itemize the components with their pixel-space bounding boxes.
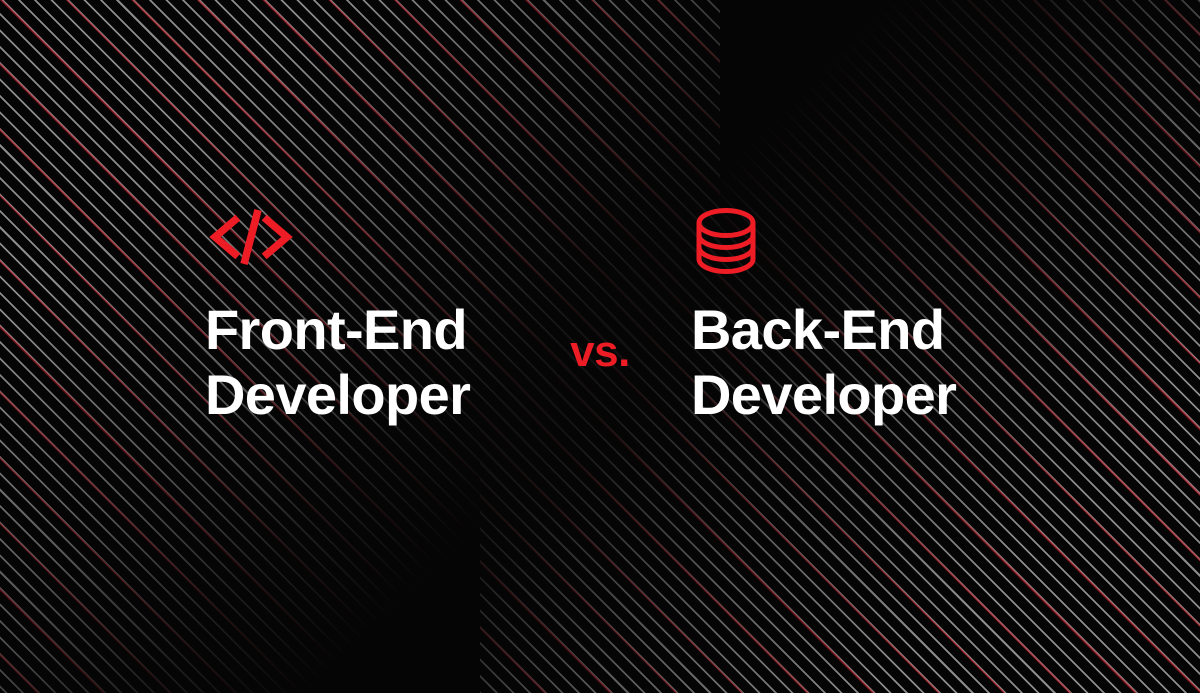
graphic-canvas: Front-End Developer vs. bbox=[0, 0, 1200, 693]
front-end-title: Front-End Developer bbox=[205, 298, 543, 428]
comparison-side-front-end: Front-End Developer bbox=[171, 0, 543, 428]
vs-label: vs. bbox=[570, 330, 630, 374]
comparison-block: Front-End Developer vs. bbox=[0, 0, 1200, 693]
comparison-side-back-end: Back-End Developer bbox=[657, 0, 1029, 428]
database-icon bbox=[691, 206, 1029, 276]
code-brackets-icon bbox=[205, 206, 543, 276]
vs-separator: vs. bbox=[543, 0, 657, 374]
back-end-title: Back-End Developer bbox=[691, 298, 1029, 428]
